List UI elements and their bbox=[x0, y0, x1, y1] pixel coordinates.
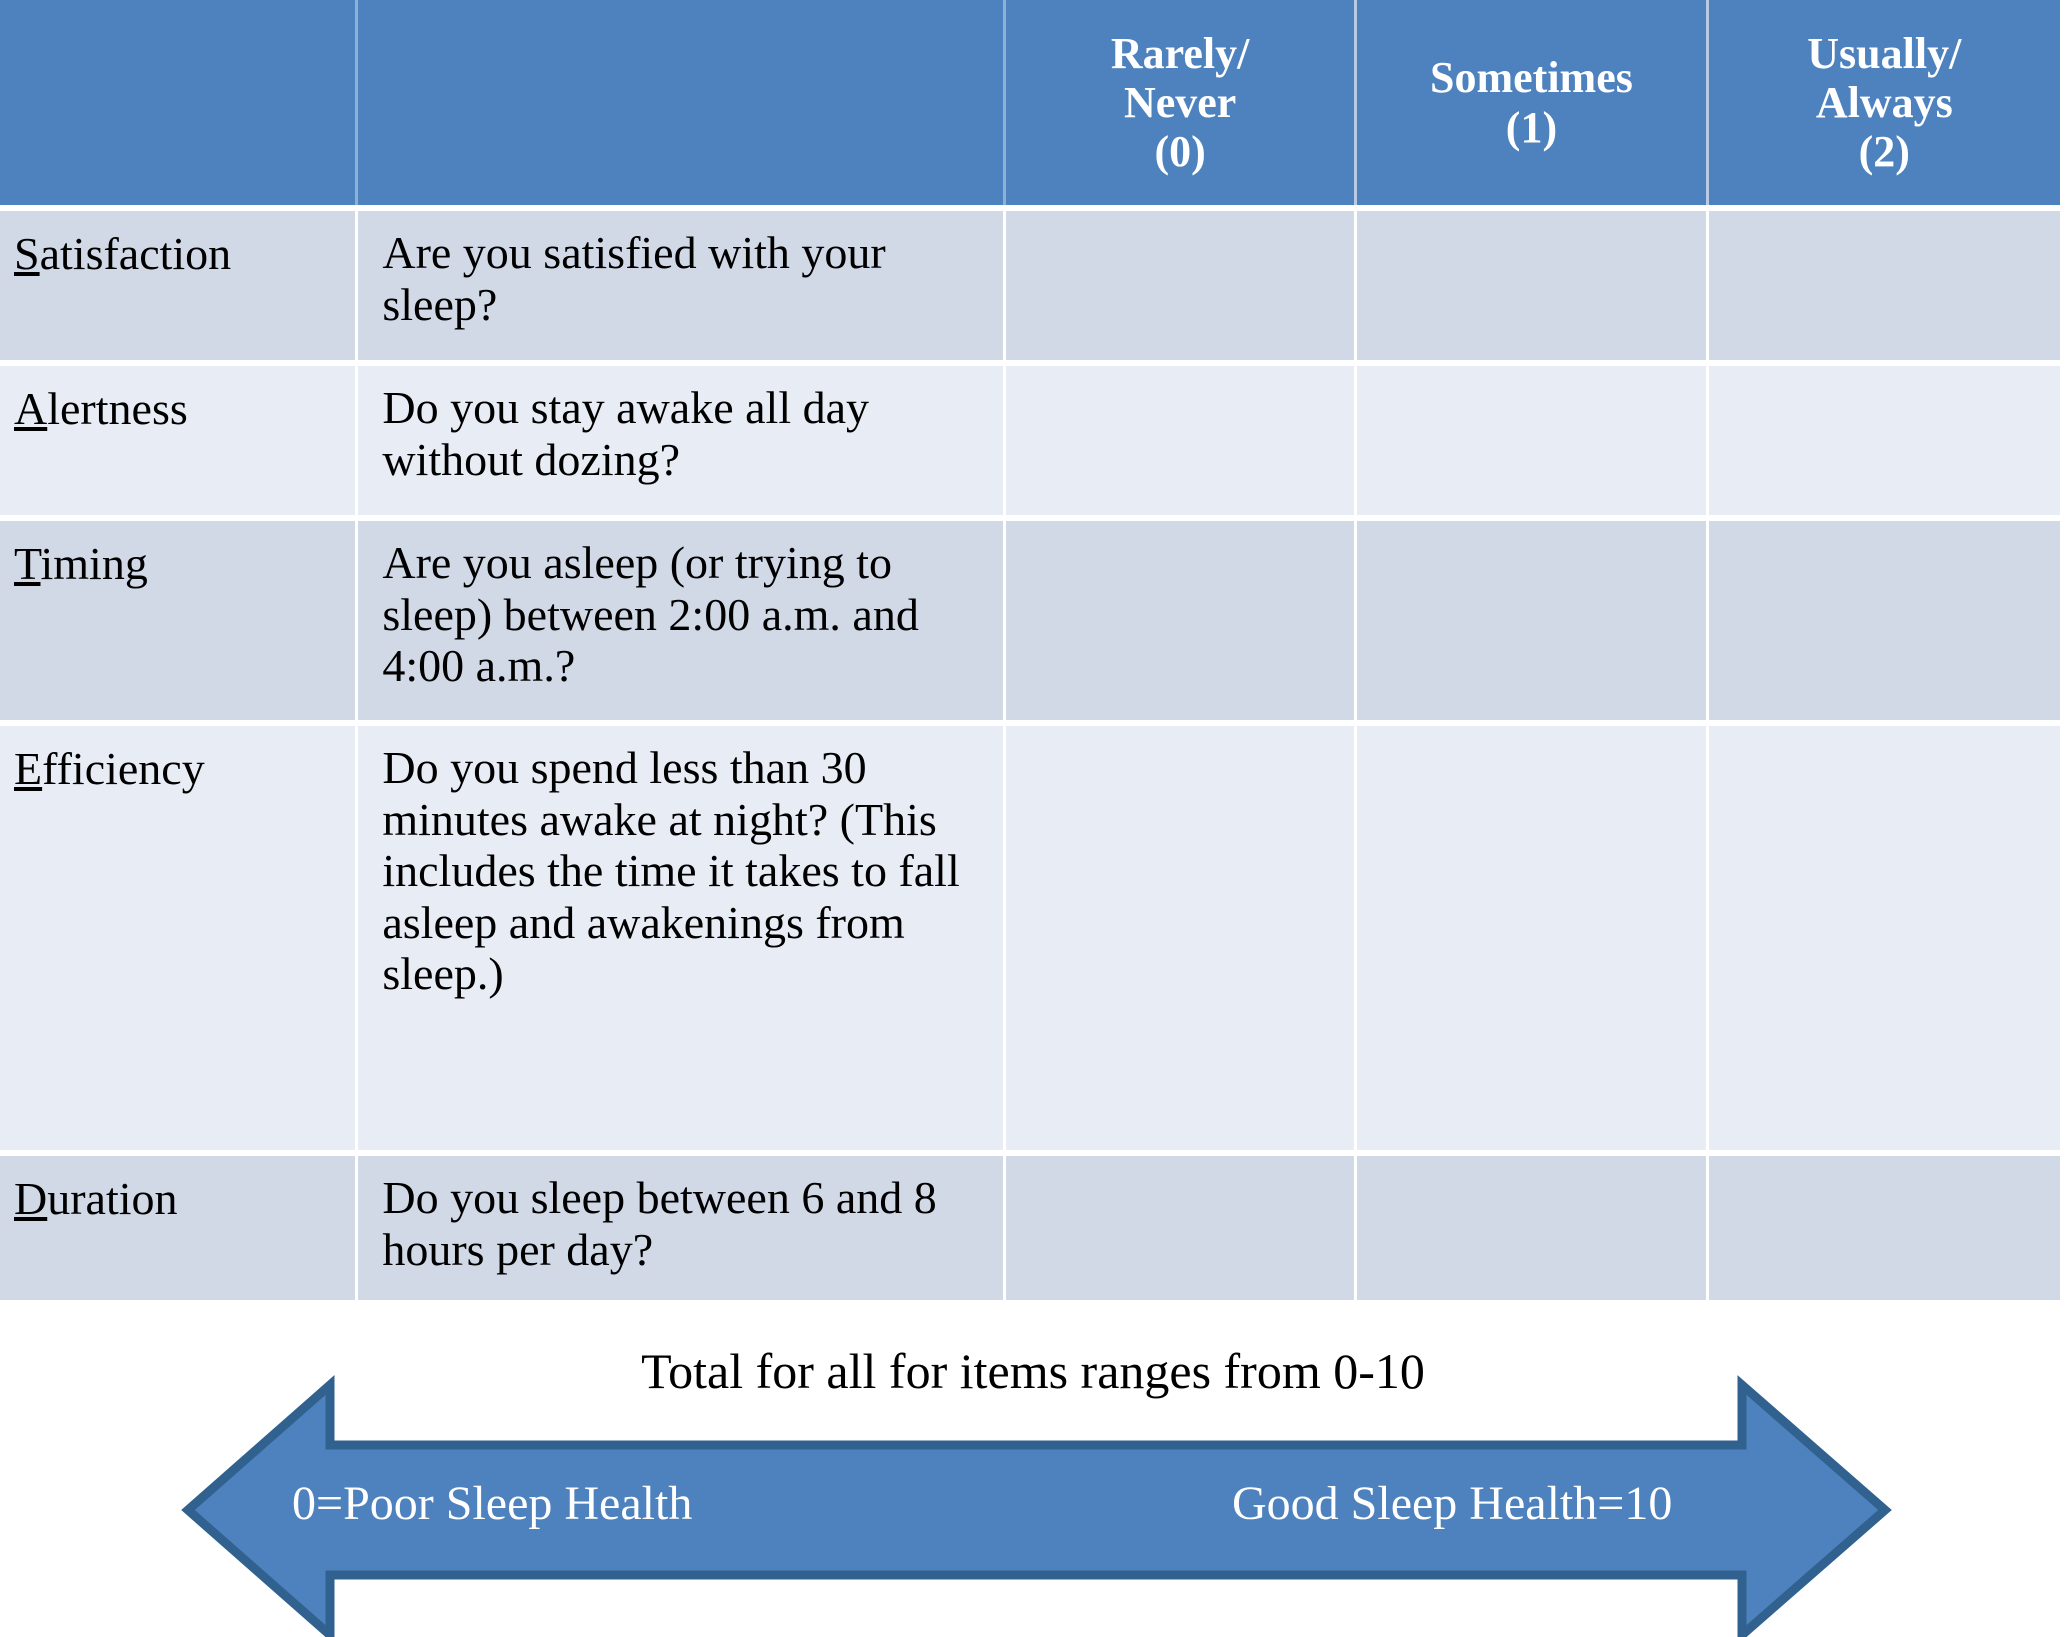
row-label-duration-initial: D bbox=[14, 1173, 47, 1224]
row-label-timing-initial: T bbox=[14, 538, 40, 589]
header-rarely-never-line1: Rarely/ bbox=[1012, 29, 1348, 78]
row-label-duration: Duration bbox=[0, 1150, 358, 1300]
response-cell-timing-1[interactable] bbox=[1357, 515, 1708, 720]
header-sometimes-line2: (1) bbox=[1363, 103, 1699, 152]
row-question-efficiency: Do you spend less than 30 minutes awake … bbox=[358, 720, 1006, 1150]
row-label-duration-rest: uration bbox=[47, 1173, 177, 1224]
header-usually-always: Usually/ Always (2) bbox=[1709, 0, 2060, 205]
row-question-alertness: Do you stay awake all day without dozing… bbox=[358, 360, 1006, 515]
row-question-satisfaction: Are you satisfied with your sleep? bbox=[358, 205, 1006, 360]
row-label-efficiency: Efficiency bbox=[0, 720, 358, 1150]
scale-left-label: 0=Poor Sleep Health bbox=[292, 1476, 692, 1531]
sated-table: Rarely/ Never (0) Sometimes (1) Usually/… bbox=[0, 0, 2060, 1300]
table-row: Duration Do you sleep between 6 and 8 ho… bbox=[0, 1150, 2060, 1300]
table-row: Efficiency Do you spend less than 30 min… bbox=[0, 720, 2060, 1150]
response-cell-satisfaction-2[interactable] bbox=[1709, 205, 2060, 360]
row-label-satisfaction-rest: atisfaction bbox=[40, 228, 232, 279]
response-cell-alertness-1[interactable] bbox=[1357, 360, 1708, 515]
response-cell-efficiency-1[interactable] bbox=[1357, 720, 1708, 1150]
response-cell-duration-2[interactable] bbox=[1709, 1150, 2060, 1300]
response-cell-alertness-0[interactable] bbox=[1006, 360, 1357, 515]
row-question-timing: Are you asleep (or trying to sleep) betw… bbox=[358, 515, 1006, 720]
header-rarely-never-line2: Never bbox=[1012, 78, 1348, 127]
response-cell-duration-1[interactable] bbox=[1357, 1150, 1708, 1300]
header-usually-always-line2: Always bbox=[1715, 78, 2054, 127]
row-label-efficiency-rest: fficiency bbox=[42, 743, 205, 794]
table-row: Timing Are you asleep (or trying to slee… bbox=[0, 515, 2060, 720]
header-rarely-never: Rarely/ Never (0) bbox=[1006, 0, 1357, 205]
response-cell-duration-0[interactable] bbox=[1006, 1150, 1357, 1300]
response-cell-timing-0[interactable] bbox=[1006, 515, 1357, 720]
header-rarely-never-line3: (0) bbox=[1012, 127, 1348, 176]
row-label-alertness: Alertness bbox=[0, 360, 358, 515]
response-cell-alertness-2[interactable] bbox=[1709, 360, 2060, 515]
table-row: Alertness Do you stay awake all day with… bbox=[0, 360, 2060, 515]
row-label-satisfaction: Satisfaction bbox=[0, 205, 358, 360]
response-cell-satisfaction-0[interactable] bbox=[1006, 205, 1357, 360]
row-label-alertness-rest: lertness bbox=[47, 383, 188, 434]
score-scale: Total for all for items ranges from 0-10… bbox=[0, 1330, 2066, 1637]
scale-right-label: Good Sleep Health=10 bbox=[1232, 1476, 1672, 1531]
table-header-row: Rarely/ Never (0) Sometimes (1) Usually/… bbox=[0, 0, 2060, 205]
response-cell-efficiency-2[interactable] bbox=[1709, 720, 2060, 1150]
response-cell-efficiency-0[interactable] bbox=[1006, 720, 1357, 1150]
header-usually-always-line3: (2) bbox=[1715, 127, 2054, 176]
header-usually-always-line1: Usually/ bbox=[1715, 29, 2054, 78]
row-label-timing-rest: iming bbox=[40, 538, 147, 589]
table-row: Satisfaction Are you satisfied with your… bbox=[0, 205, 2060, 360]
row-label-efficiency-initial: E bbox=[14, 743, 42, 794]
row-question-duration: Do you sleep between 6 and 8 hours per d… bbox=[358, 1150, 1006, 1300]
response-cell-satisfaction-1[interactable] bbox=[1357, 205, 1708, 360]
row-label-timing: Timing bbox=[0, 515, 358, 720]
sated-questionnaire: Rarely/ Never (0) Sometimes (1) Usually/… bbox=[0, 0, 2066, 1637]
header-sometimes: Sometimes (1) bbox=[1357, 0, 1708, 205]
response-cell-timing-2[interactable] bbox=[1709, 515, 2060, 720]
header-sometimes-line1: Sometimes bbox=[1363, 53, 1699, 102]
blank-dimension-header bbox=[0, 0, 358, 205]
row-label-satisfaction-initial: S bbox=[14, 228, 40, 279]
row-label-alertness-initial: A bbox=[14, 383, 47, 434]
blank-question-header bbox=[358, 0, 1006, 205]
